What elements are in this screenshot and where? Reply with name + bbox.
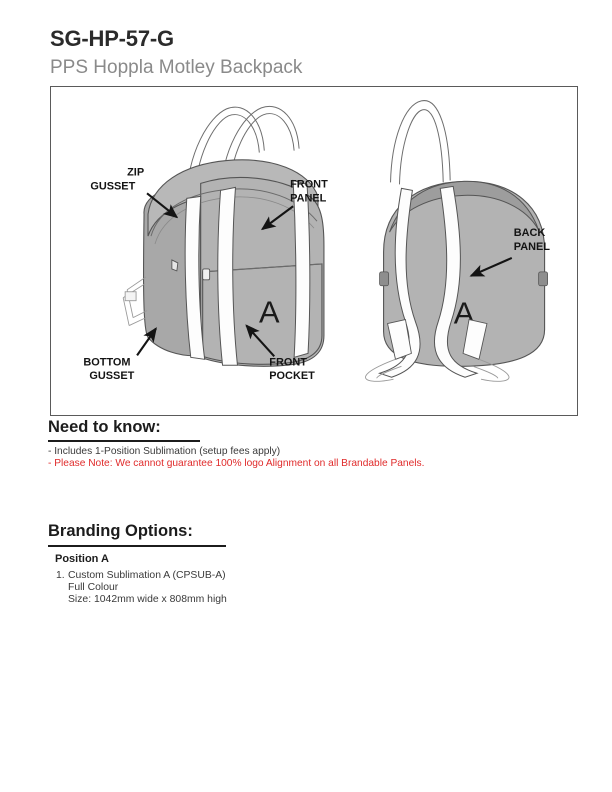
brand-mark-a-front: A: [259, 295, 280, 330]
label-front-pocket-line2: POCKET: [269, 370, 315, 382]
label-front-pocket-line1: FRONT: [269, 356, 307, 368]
front-pocket-zip-pull: [203, 269, 210, 280]
product-illustration-frame: A: [50, 86, 578, 416]
label-bottom-gusset-line1: BOTTOM: [83, 356, 130, 368]
label-back-panel-line2: PANEL: [514, 241, 551, 253]
need-to-know-underline: [48, 440, 200, 442]
side-tab-right: [539, 272, 548, 286]
label-zip-gusset-line1: ZIP: [127, 166, 144, 178]
product-name-subtitle: PPS Hoppla Motley Backpack: [50, 57, 302, 79]
label-back-panel-line1: BACK: [514, 227, 546, 239]
need-to-know-note-red: - Please Note: We cannot guarantee 100% …: [48, 458, 424, 469]
page-title: SG-HP-57-G: [50, 26, 174, 52]
backpack-diagram-svg: A: [51, 87, 577, 415]
need-to-know-line-1: - Includes 1-Position Sublimation (setup…: [48, 446, 280, 457]
label-front-panel-line2: PANEL: [290, 192, 327, 204]
branding-options-underline: [48, 545, 226, 547]
branding-options-heading: Branding Options:: [48, 522, 193, 541]
label-zip-gusset-line2: GUSSET: [90, 180, 135, 192]
front-view-illustration: A: [123, 106, 324, 366]
shoulder-strap-far-right: [293, 180, 310, 357]
branding-item-number: 1.: [56, 570, 68, 582]
branding-item-colour: Full Colour: [68, 582, 227, 594]
label-front-panel-line1: FRONT: [290, 178, 328, 190]
branding-option-item: 1.Custom Sublimation A (CPSUB-A) Full Co…: [56, 570, 227, 607]
branding-position-label: Position A: [55, 553, 109, 565]
callout-bottom-gusset: BOTTOM GUSSET: [83, 329, 156, 383]
need-to-know-heading: Need to know:: [48, 418, 161, 437]
spec-sheet-page: SG-HP-57-G PPS Hoppla Motley Backpack: [0, 0, 612, 792]
branding-item-name: Custom Sublimation A (CPSUB-A): [68, 570, 226, 581]
label-bottom-gusset-line2: GUSSET: [89, 370, 134, 382]
side-tab-left: [380, 272, 389, 286]
branding-item-size: Size: 1042mm wide x 808mm high: [68, 594, 227, 606]
back-view-handles: [391, 101, 451, 185]
